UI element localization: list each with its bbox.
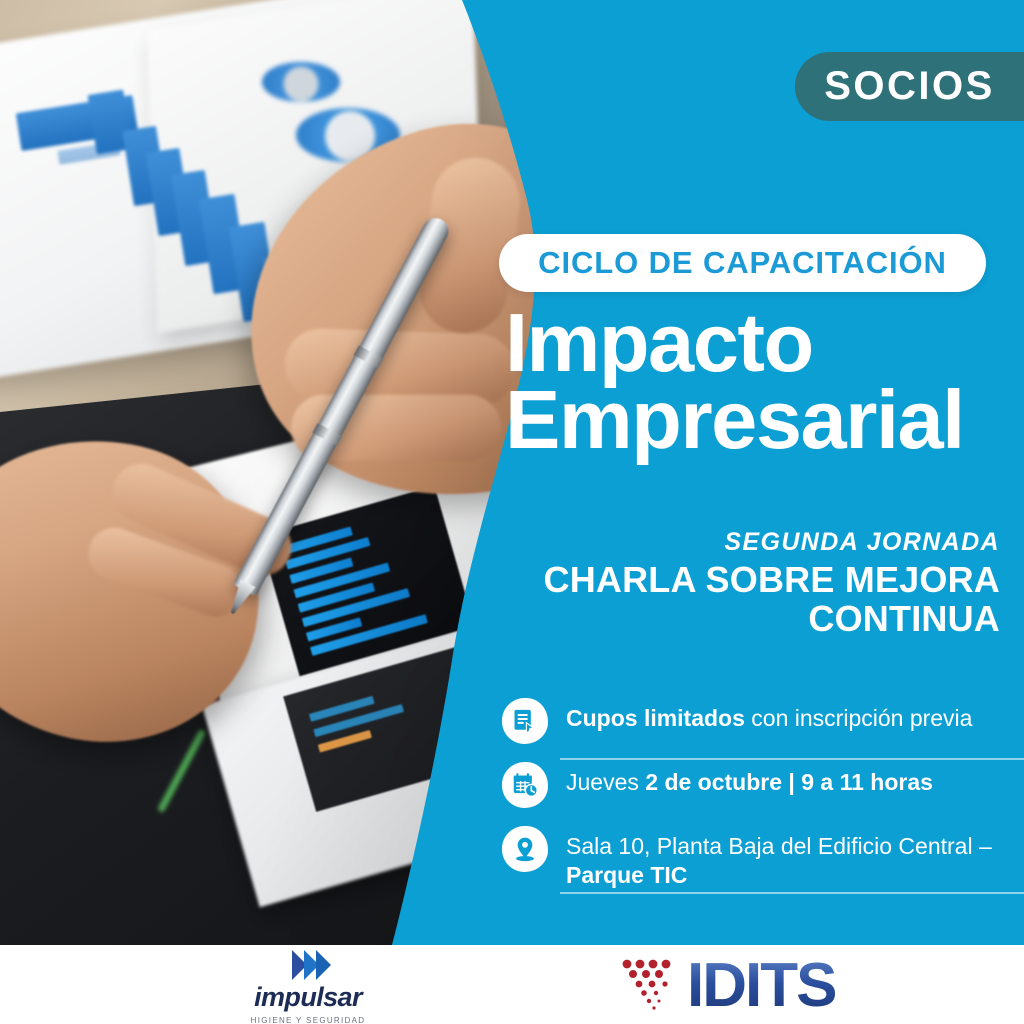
- detail-prefix: Sala 10, Planta Baja del Edificio Centra…: [566, 833, 992, 859]
- socios-badge: SOCIOS: [795, 52, 1024, 121]
- row-divider: [560, 892, 1024, 894]
- poster-canvas: SOCIOS CICLO DE CAPACITACIÓN Impacto Emp…: [0, 0, 1024, 1024]
- impulsar-wordmark: impulsar: [218, 982, 398, 1013]
- idits-logo: IDITS: [617, 955, 835, 1017]
- footer-logo-bar: impulsar HIGIENE Y SEGURIDAD IDITS: [0, 945, 1024, 1024]
- detail-strong: 2 de octubre | 9 a 11 horas: [645, 769, 933, 795]
- idits-dot-mark-icon: [617, 957, 681, 1015]
- kicker-label: CICLO DE CAPACITACIÓN: [538, 245, 947, 281]
- subtitle-line-1: CHARLA SOBRE MEJORA: [540, 561, 1000, 600]
- detail-strong: Cupos limitados: [566, 705, 745, 731]
- impulsar-tagline: HIGIENE Y SEGURIDAD: [218, 1016, 398, 1024]
- subtitle-line-2: CONTINUA: [540, 600, 1000, 639]
- detail-rest: con inscripción previa: [745, 705, 973, 731]
- event-details-list: Cupos limitados con inscripción previa: [502, 696, 1024, 891]
- kicker-pill: CICLO DE CAPACITACIÓN: [499, 234, 986, 292]
- detail-row-location-text: Sala 10, Planta Baja del Edificio Centra…: [548, 824, 1024, 891]
- detail-row-registration-text: Cupos limitados con inscripción previa: [548, 696, 1024, 733]
- location-pin-icon: [502, 826, 548, 872]
- impulsar-chevrons-icon: [218, 950, 398, 980]
- detail-strong: Parque TIC: [566, 862, 687, 888]
- detail-row-location: Sala 10, Planta Baja del Edificio Centra…: [502, 824, 1024, 891]
- subtitle-eyebrow: SEGUNDA JORNADA: [540, 528, 1000, 557]
- detail-prefix: Jueves: [566, 769, 645, 795]
- headline-line-2: Empresarial: [505, 381, 1015, 458]
- detail-row-date-text: Jueves 2 de octubre | 9 a 11 horas: [548, 760, 1024, 797]
- headline: Impacto Empresarial: [505, 304, 1015, 458]
- detail-row-registration: Cupos limitados con inscripción previa: [502, 696, 1024, 760]
- impulsar-logo: impulsar HIGIENE Y SEGURIDAD: [218, 950, 398, 1024]
- detail-row-date: Jueves 2 de octubre | 9 a 11 horas: [502, 760, 1024, 824]
- photo-donut-chart: [262, 62, 340, 102]
- socios-badge-label: SOCIOS: [824, 64, 995, 109]
- idits-wordmark: IDITS: [687, 955, 835, 1017]
- calendar-clock-icon: [502, 762, 548, 808]
- subtitle-block: SEGUNDA JORNADA CHARLA SOBRE MEJORA CONT…: [540, 528, 1000, 639]
- registration-form-icon: [502, 698, 548, 744]
- headline-line-1: Impacto: [505, 304, 1015, 381]
